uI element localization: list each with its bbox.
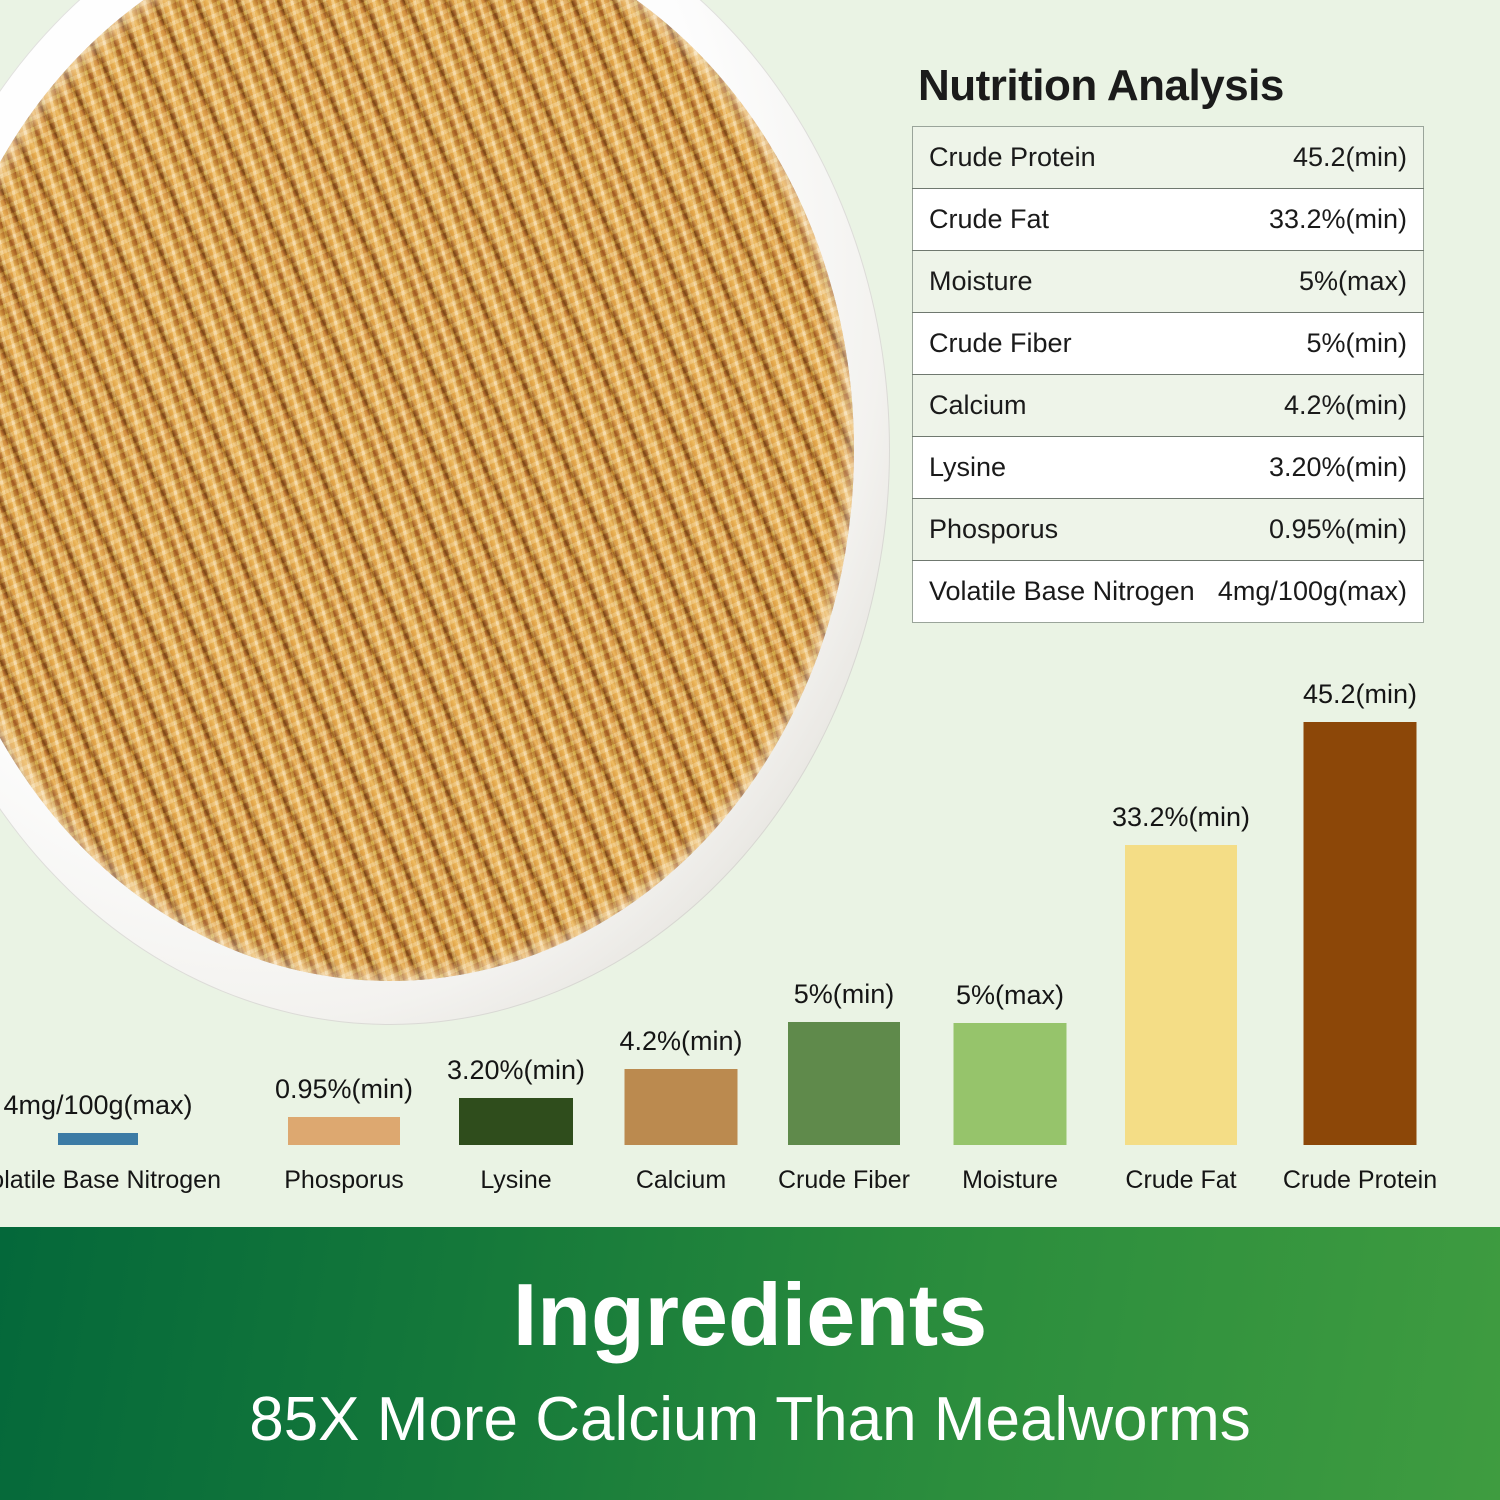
bar-category-label: Lysine [480,1168,551,1193]
nutrient-name: Crude Protein [913,127,1169,189]
nutrient-value: 3.20%(min) [1168,437,1424,499]
table-row: Volatile Base Nitrogen 4mg/100g(max) [913,561,1424,623]
nutrient-value: 45.2(min) [1168,127,1424,189]
nutrition-analysis-block: Nutrition Analysis Crude Protein 45.2(mi… [912,64,1424,623]
nutrition-analysis-title: Nutrition Analysis [918,64,1424,108]
table-row: Crude Fat 33.2%(min) [913,189,1424,251]
table-row: Calcium 4.2%(min) [913,375,1424,437]
ingredients-banner: Ingredients 85X More Calcium Than Mealwo… [0,1227,1500,1500]
nutrient-name: Crude Fat [913,189,1169,251]
bar-value-label: 45.2(min) [1303,681,1417,708]
table-row: Lysine 3.20%(min) [913,437,1424,499]
nutrient-name: Volatile Base Nitrogen [913,561,1169,623]
nutrient-name: Moisture [913,251,1169,313]
bar-value-label: 5%(max) [956,982,1064,1009]
bar-group: 4mg/100g(max)Volatile Base Nitrogen [0,640,228,1215]
product-infographic: Nutrition Analysis Crude Protein 45.2(mi… [0,0,1500,1500]
nutrient-name: Crude Fiber [913,313,1169,375]
bar [1304,722,1417,1145]
banner-subtitle: 85X More Calcium Than Mealworms [0,1359,1500,1451]
bar-category-label: Volatile Base Nitrogen [0,1168,221,1193]
bar [1125,845,1237,1145]
nutrient-name: Calcium [913,375,1169,437]
bar [58,1133,138,1145]
nutrient-value: 33.2%(min) [1168,189,1424,251]
table-row: Crude Protein 45.2(min) [913,127,1424,189]
bar-category-label: Crude Protein [1283,1168,1437,1193]
nutrient-value: 4mg/100g(max) [1168,561,1424,623]
nutrient-value: 0.95%(min) [1168,499,1424,561]
bar-category-label: Moisture [962,1168,1058,1193]
nutrient-value: 4.2%(min) [1168,375,1424,437]
bar-category-label: Crude Fat [1125,1168,1236,1193]
bar-category-label: Calcium [636,1168,726,1193]
nutrient-value: 5%(min) [1168,313,1424,375]
nutrient-value: 5%(max) [1168,251,1424,313]
table-row: Crude Fiber 5%(min) [913,313,1424,375]
banner-title: Ingredients [0,1227,1500,1359]
bar-group: 45.2(min)Crude Protein [1230,640,1490,1215]
bar [288,1117,400,1145]
nutrient-name: Phosporus [913,499,1169,561]
bar-value-label: 4mg/100g(max) [3,1092,192,1119]
nutrition-analysis-table: Crude Protein 45.2(min) Crude Fat 33.2%(… [912,126,1424,623]
table-row: Moisture 5%(max) [913,251,1424,313]
nutrient-name: Lysine [913,437,1169,499]
table-row: Phosporus 0.95%(min) [913,499,1424,561]
nutrition-bar-chart: 4mg/100g(max)Volatile Base Nitrogen0.95%… [0,640,1500,1215]
bar [954,1023,1067,1145]
